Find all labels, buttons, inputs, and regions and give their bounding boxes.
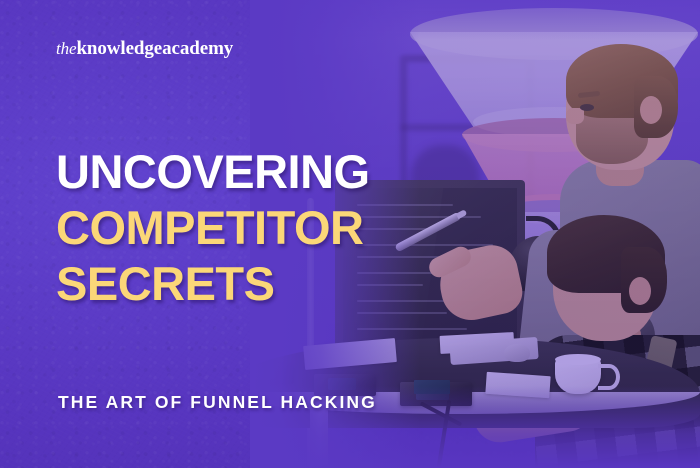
headline-line-3: SECRETS: [56, 260, 476, 308]
brand-logo[interactable]: theknowledgeacademy: [56, 38, 233, 60]
brand-logo-name: knowledgeacademy: [76, 38, 233, 59]
marketing-banner: theknowledgeacademy UNCOVERING COMPETITO…: [0, 0, 700, 468]
subtitle: THE ART OF FUNNEL HACKING: [58, 392, 377, 413]
headline-line-1: UNCOVERING: [56, 148, 476, 196]
headline-block: UNCOVERING COMPETITOR SECRETS: [56, 148, 476, 316]
brand-logo-prefix: the: [56, 39, 76, 58]
headline-line-2: COMPETITOR: [56, 204, 476, 252]
